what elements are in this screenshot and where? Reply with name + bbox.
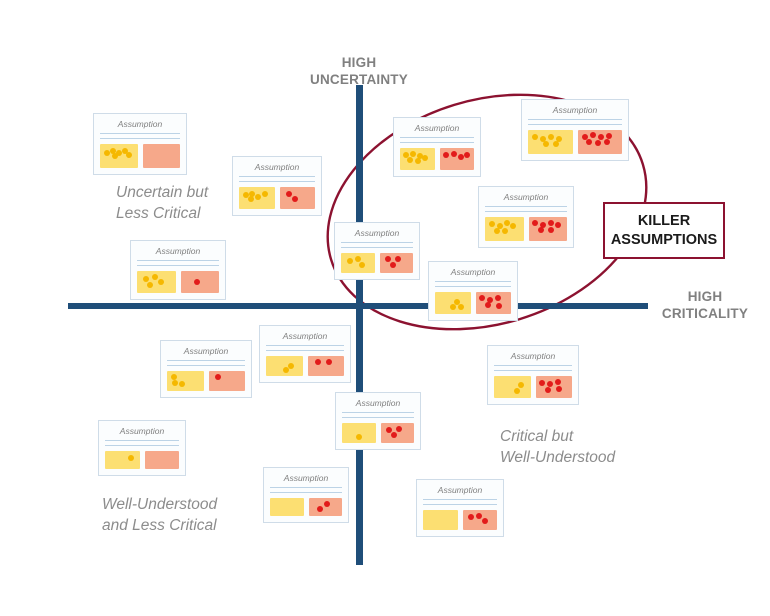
assumption-card-title: Assumption: [435, 267, 511, 278]
criticality-swatch: [381, 423, 415, 443]
red-dot: [391, 432, 397, 438]
assumption-card-title: Assumption: [494, 351, 572, 362]
assumption-card-rule: [270, 492, 342, 493]
assumption-card-rule: [100, 133, 180, 134]
yellow-dot: [128, 455, 134, 461]
yellow-dot: [147, 282, 153, 288]
yellow-dot: [283, 367, 289, 373]
red-dot: [458, 154, 464, 160]
assumption-card-rule: [100, 138, 180, 139]
assumption-card[interactable]: Assumption: [160, 340, 252, 398]
red-dot: [595, 140, 601, 146]
uncertainty-swatch: [100, 144, 138, 168]
red-dot: [485, 302, 491, 308]
red-dot: [545, 387, 551, 393]
red-dot: [385, 256, 391, 262]
red-dot: [326, 359, 332, 365]
red-dot: [194, 279, 200, 285]
assumption-card-title: Assumption: [167, 346, 245, 357]
criticality-swatch: [308, 356, 345, 376]
assumption-card-swatches: [400, 148, 474, 170]
assumption-card[interactable]: Assumption: [98, 420, 186, 476]
red-dot: [396, 426, 402, 432]
uncertainty-swatch: [266, 356, 303, 376]
yellow-dot: [450, 304, 456, 310]
criticality-swatch: [380, 253, 414, 273]
assumption-card-swatches: [435, 292, 511, 314]
quadrant-label-critical-well-understood: Critical but Well-Understood: [500, 426, 615, 468]
red-dot: [286, 191, 292, 197]
red-dot: [315, 359, 321, 365]
assumption-card[interactable]: Assumption: [259, 325, 351, 383]
assumption-card-rule: [528, 124, 622, 125]
yellow-dot: [532, 134, 538, 140]
assumption-card[interactable]: Assumption: [334, 222, 420, 280]
assumption-card-rule: [341, 247, 413, 248]
yellow-dot: [112, 153, 118, 159]
red-dot: [468, 514, 474, 520]
quadrant-label-uncertain-less-critical: Uncertain but Less Critical: [116, 182, 208, 224]
criticality-swatch: [143, 144, 181, 168]
red-dot: [606, 133, 612, 139]
criticality-swatch: [463, 510, 498, 530]
red-dot: [476, 513, 482, 519]
assumption-card[interactable]: Assumption: [93, 113, 187, 175]
red-dot: [324, 501, 330, 507]
killer-assumptions-label: KILLER ASSUMPTIONS: [611, 212, 717, 250]
yellow-dot: [510, 223, 516, 229]
yellow-dot: [359, 262, 365, 268]
assumption-card-title: Assumption: [100, 119, 180, 130]
criticality-swatch: [280, 187, 316, 209]
assumption-card-rule: [423, 499, 497, 500]
assumption-card-rule: [266, 350, 344, 351]
assumption-card-swatches: [167, 371, 245, 391]
red-dot: [538, 227, 544, 233]
red-dot: [586, 139, 592, 145]
assumption-card-rule: [137, 265, 219, 266]
red-dot: [464, 152, 470, 158]
assumption-card[interactable]: Assumption: [416, 479, 504, 537]
yellow-dot: [553, 141, 559, 147]
red-dot: [496, 303, 502, 309]
yellow-dot: [356, 434, 362, 440]
assumption-card-title: Assumption: [528, 105, 622, 116]
yellow-dot: [415, 158, 421, 164]
red-dot: [443, 152, 449, 158]
assumption-card-rule: [341, 242, 413, 243]
assumption-card-swatches: [485, 217, 567, 241]
red-dot: [395, 256, 401, 262]
assumption-card-swatches: [239, 187, 315, 209]
red-dot: [590, 132, 596, 138]
assumption-card-rule: [435, 281, 511, 282]
yellow-dot: [248, 196, 254, 202]
assumption-card-title: Assumption: [239, 162, 315, 173]
yellow-dot: [489, 221, 495, 227]
yellow-dot: [262, 191, 268, 197]
red-dot: [555, 222, 561, 228]
uncertainty-swatch: [494, 376, 531, 398]
red-dot: [495, 295, 501, 301]
axis-label-high-uncertainty: HIGH UNCERTAINTY: [291, 54, 427, 88]
yellow-dot: [126, 152, 132, 158]
assumption-card-swatches: [342, 423, 414, 443]
criticality-swatch: [536, 376, 573, 398]
yellow-dot: [158, 279, 164, 285]
assumption-card-title: Assumption: [341, 228, 413, 239]
yellow-dot: [548, 134, 554, 140]
assumption-card[interactable]: Assumption: [232, 156, 322, 216]
yellow-dot: [514, 388, 520, 394]
criticality-swatch: [145, 451, 180, 469]
assumption-card-rule: [485, 211, 567, 212]
horizontal-axis: [68, 303, 648, 309]
criticality-swatch: [578, 130, 623, 154]
assumption-card-rule: [239, 181, 315, 182]
red-dot: [479, 295, 485, 301]
criticality-swatch: [476, 292, 512, 314]
assumption-card-title: Assumption: [270, 473, 342, 484]
assumption-card-rule: [528, 119, 622, 120]
red-dot: [539, 380, 545, 386]
yellow-dot: [347, 258, 353, 264]
yellow-dot: [179, 381, 185, 387]
assumption-card-swatches: [341, 253, 413, 273]
criticality-swatch: [209, 371, 246, 391]
yellow-dot: [255, 194, 261, 200]
yellow-dot: [355, 256, 361, 262]
uncertainty-swatch: [435, 292, 471, 314]
assumption-card-rule: [494, 365, 572, 366]
assumption-card-rule: [400, 137, 474, 138]
vertical-axis: [356, 85, 363, 565]
red-dot: [317, 506, 323, 512]
assumption-card-rule: [435, 286, 511, 287]
assumption-card-swatches: [270, 498, 342, 516]
assumption-card-rule: [342, 417, 414, 418]
assumption-card-rule: [167, 360, 245, 361]
assumption-card-swatches: [528, 130, 622, 154]
red-dot: [451, 151, 457, 157]
red-dot: [604, 139, 610, 145]
assumption-card-title: Assumption: [266, 331, 344, 342]
criticality-swatch: [309, 498, 343, 516]
red-dot: [548, 227, 554, 233]
assumption-card[interactable]: Assumption: [130, 240, 226, 300]
assumption-card-title: Assumption: [400, 123, 474, 134]
red-dot: [292, 196, 298, 202]
assumption-card-swatches: [137, 271, 219, 293]
yellow-dot: [422, 155, 428, 161]
yellow-dot: [502, 228, 508, 234]
red-dot: [556, 386, 562, 392]
criticality-swatch: [529, 217, 568, 241]
assumption-card-rule: [400, 142, 474, 143]
uncertainty-swatch: [485, 217, 524, 241]
uncertainty-swatch: [137, 271, 176, 293]
assumption-card-rule: [167, 365, 245, 366]
red-dot: [386, 427, 392, 433]
assumption-card-rule: [485, 206, 567, 207]
assumption-matrix-canvas: HIGH UNCERTAINTY HIGH CRITICALITY Uncert…: [0, 0, 770, 616]
assumption-card-rule: [266, 345, 344, 346]
uncertainty-swatch: [105, 451, 140, 469]
killer-assumptions-callout: KILLER ASSUMPTIONS: [603, 202, 725, 259]
yellow-dot: [410, 151, 416, 157]
uncertainty-swatch: [341, 253, 375, 273]
assumption-card-title: Assumption: [423, 485, 497, 496]
yellow-dot: [458, 304, 464, 310]
uncertainty-swatch: [342, 423, 376, 443]
yellow-dot: [288, 363, 294, 369]
axis-label-high-criticality: HIGH CRITICALITY: [640, 288, 770, 322]
yellow-dot: [518, 382, 524, 388]
yellow-dot: [152, 274, 158, 280]
assumption-card-rule: [342, 412, 414, 413]
red-dot: [555, 379, 561, 385]
red-dot: [548, 220, 554, 226]
yellow-dot: [504, 220, 510, 226]
yellow-dot: [494, 228, 500, 234]
assumption-card[interactable]: Assumption: [478, 186, 574, 248]
uncertainty-swatch: [167, 371, 204, 391]
assumption-card-swatches: [266, 356, 344, 376]
assumption-card-title: Assumption: [485, 192, 567, 203]
assumption-card[interactable]: Assumption: [263, 467, 349, 523]
assumption-card-rule: [423, 504, 497, 505]
assumption-card[interactable]: Assumption: [393, 117, 481, 177]
criticality-swatch: [181, 271, 220, 293]
assumption-card-title: Assumption: [137, 246, 219, 257]
yellow-dot: [543, 141, 549, 147]
uncertainty-swatch: [270, 498, 304, 516]
assumption-card-rule: [137, 260, 219, 261]
assumption-card-rule: [105, 445, 179, 446]
assumption-card-rule: [270, 487, 342, 488]
uncertainty-swatch: [239, 187, 275, 209]
yellow-dot: [407, 157, 413, 163]
uncertainty-swatch: [400, 148, 435, 170]
assumption-card[interactable]: Assumption: [521, 99, 629, 161]
assumption-card-swatches: [494, 376, 572, 398]
assumption-card-title: Assumption: [105, 426, 179, 437]
uncertainty-swatch: [528, 130, 573, 154]
assumption-card-swatches: [100, 144, 180, 168]
assumption-card-swatches: [423, 510, 497, 530]
assumption-card-rule: [105, 440, 179, 441]
assumption-card-swatches: [105, 451, 179, 469]
assumption-card-rule: [239, 176, 315, 177]
assumption-card-rule: [494, 370, 572, 371]
uncertainty-swatch: [423, 510, 458, 530]
assumption-card[interactable]: Assumption: [428, 261, 518, 321]
red-dot: [215, 374, 221, 380]
assumption-card[interactable]: Assumption: [335, 392, 421, 450]
red-dot: [482, 518, 488, 524]
quadrant-label-well-understood-less-critical: Well-Understood and Less Critical: [102, 494, 217, 536]
criticality-swatch: [440, 148, 475, 170]
assumption-card[interactable]: Assumption: [487, 345, 579, 405]
red-dot: [390, 262, 396, 268]
yellow-dot: [172, 380, 178, 386]
assumption-card-title: Assumption: [342, 398, 414, 409]
red-dot: [532, 220, 538, 226]
